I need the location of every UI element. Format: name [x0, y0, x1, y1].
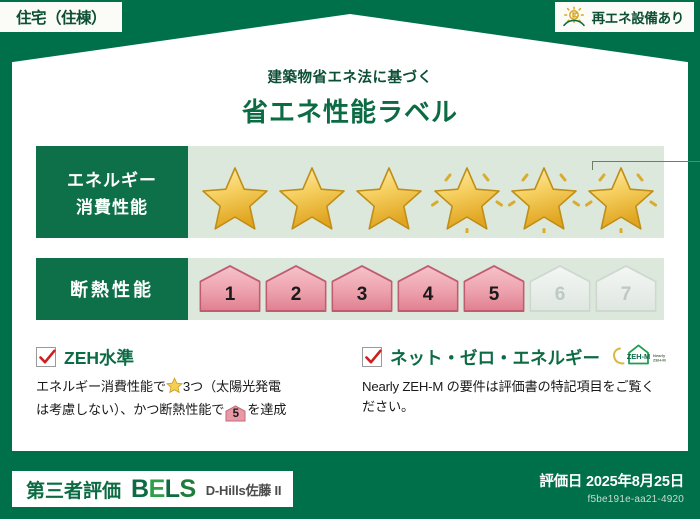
insulation-level-5: 5: [462, 264, 526, 314]
energy-star-6: [583, 162, 660, 236]
title-subtitle: 建築物省エネ法に基づく: [12, 66, 688, 87]
star-icon: [199, 165, 271, 233]
zeh-m-logo: ZEH-M Nearly ZEH-M: [610, 342, 668, 373]
bels-footer-badge: 第三者評価 BELS D-Hills佐藤 II: [12, 471, 293, 507]
energy-star-2: [273, 162, 350, 236]
net-zero-energy-panel: ネット・ゼロ・エネルギー ZEH-M Nearly ZEH-M Nearly Z…: [350, 344, 676, 422]
insulation-scale-panel: 1234567: [188, 258, 664, 320]
star-icon: [585, 165, 657, 233]
insulation-label-text: 断熱性能: [70, 276, 154, 302]
page-title: 省エネ性能ラベル: [12, 92, 688, 129]
evaluation-date: 評価日 2025年8月25日: [539, 470, 684, 491]
bels-wordmark: BELS: [131, 475, 196, 504]
star-icon: [353, 165, 425, 233]
insulation-level-1: 1: [198, 264, 262, 314]
insulation-level-number: 2: [291, 284, 302, 314]
bels-letter-e: E: [149, 475, 165, 503]
zeh-panels: ZEH水準 エネルギー消費性能で3つ（太陽光発電 は考慮しない）、かつ断熱性能で…: [24, 344, 676, 422]
insulation-level-number: 5: [489, 284, 500, 314]
bels-letter-s: S: [180, 475, 196, 503]
energy-performance-label: エネルギー 消費性能: [36, 146, 188, 238]
svg-text:ZEH-M: ZEH-M: [627, 352, 650, 361]
star-icon: [276, 165, 348, 233]
energy-label-root: 住宅（住棟） 再エネ設備あり 建築物省エネ法に基づく 省エネ性能ラベル エネルギ…: [0, 0, 700, 519]
evaluation-meta: 評価日 2025年8月25日 f5be191e-aa21-4920: [539, 470, 684, 505]
insulation-level-4: 4: [396, 264, 460, 314]
zeh-standard-header: ZEH水準: [36, 344, 338, 370]
insulation-level-number: 4: [423, 284, 434, 314]
star-icon: [508, 165, 580, 233]
zeh-standard-panel: ZEH水準 エネルギー消費性能で3つ（太陽光発電 は考慮しない）、かつ断熱性能で…: [24, 344, 350, 422]
insulation-level-number: 1: [225, 284, 236, 314]
insulation-level-6: 6: [528, 264, 592, 314]
energy-performance-row: エネルギー 消費性能 太陽光発電(自家消費)分: [36, 146, 664, 238]
renewable-badge-label: 再エネ設備あり: [592, 7, 684, 27]
inline-insulation-badge: 5: [225, 405, 246, 422]
insulation-level-3: 3: [330, 264, 394, 314]
inline-badge-number: 5: [225, 405, 246, 424]
third-party-eval-label: 第三者評価: [26, 476, 121, 503]
svg-text:ZEH-M: ZEH-M: [653, 357, 666, 362]
energy-star-3: [351, 162, 428, 236]
energy-star-1: [196, 162, 273, 236]
building-name: D-Hills佐藤 II: [206, 480, 282, 499]
energy-label-line1: エネルギー: [67, 166, 157, 191]
net-zero-header: ネット・ゼロ・エネルギー ZEH-M Nearly ZEH-M: [362, 344, 664, 370]
insulation-level-7: 7: [594, 264, 658, 314]
title-block: 建築物省エネ法に基づく 省エネ性能ラベル: [12, 66, 688, 129]
star-icon: [431, 165, 503, 233]
zeh-standard-description: エネルギー消費性能で3つ（太陽光発電 は考慮しない）、かつ断熱性能で5を達成: [36, 377, 338, 422]
zeh-standard-checkbox[interactable]: [36, 347, 56, 367]
inline-star-icon: [166, 377, 183, 400]
net-zero-checkbox[interactable]: [362, 347, 382, 367]
insulation-level-2: 2: [264, 264, 328, 314]
building-type-label: 住宅（住棟）: [16, 6, 106, 28]
building-type-tab: 住宅（住棟）: [0, 2, 122, 32]
insulation-performance-label: 断熱性能: [36, 258, 188, 320]
energy-star-rating: [196, 162, 660, 236]
solar-sun-icon: [561, 6, 587, 28]
zeh-desc-stars: 3つ（太陽光発電: [183, 379, 281, 394]
bels-letter-l: L: [165, 475, 180, 503]
insulation-level-number: 3: [357, 284, 368, 314]
insulation-level-scale: 1234567: [198, 262, 658, 316]
renewable-energy-badge: 再エネ設備あり: [555, 2, 694, 32]
net-zero-description: Nearly ZEH-M の要件は評価書の特記項目をご覧ください。: [362, 377, 664, 418]
net-zero-title: ネット・ゼロ・エネルギー: [390, 345, 600, 370]
zeh-standard-title: ZEH水準: [64, 345, 134, 370]
zeh-desc-part1: エネルギー消費性能で: [36, 379, 166, 394]
zeh-desc-part3: を達成: [247, 402, 286, 417]
zeh-desc-part2: は考慮しない）、かつ断熱性能で: [36, 402, 224, 417]
energy-stars-panel: 太陽光発電(自家消費)分: [188, 146, 664, 238]
insulation-performance-row: 断熱性能 1234567: [36, 258, 664, 320]
insulation-level-number: 6: [555, 284, 566, 314]
evaluation-id: f5be191e-aa21-4920: [539, 494, 684, 505]
insulation-level-number: 7: [621, 284, 632, 314]
energy-star-4: [428, 162, 505, 236]
energy-label-line2: 消費性能: [76, 193, 148, 218]
bels-letter-b: B: [131, 475, 149, 503]
energy-star-5: [505, 162, 582, 236]
